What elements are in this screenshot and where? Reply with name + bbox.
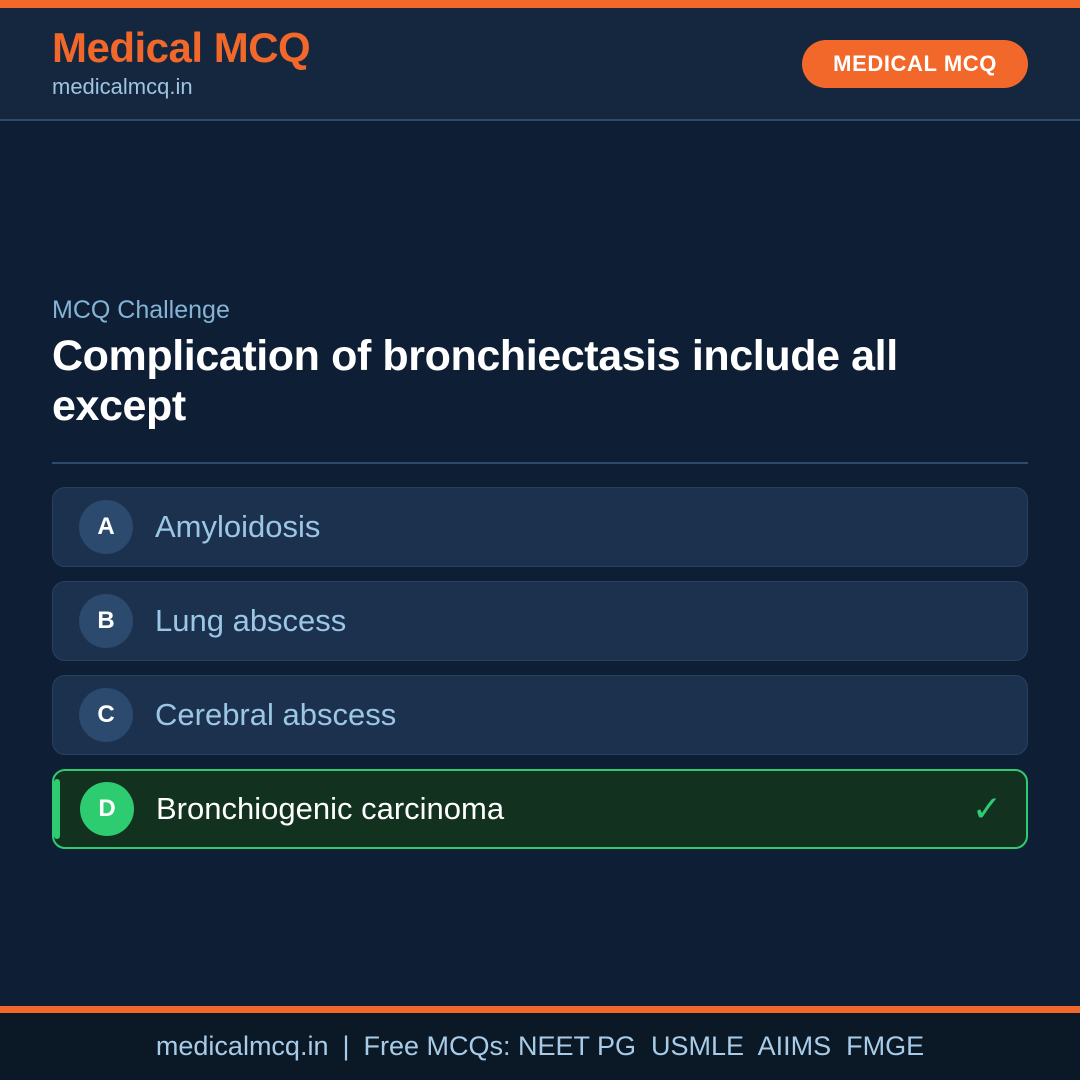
option-badge-d: D: [80, 782, 134, 836]
brand-subtitle: medicalmcq.in: [52, 73, 310, 102]
footer-exams-label: Free MCQs: NEET PG USMLE AIIMS FMGE: [363, 1031, 924, 1062]
option-row-a[interactable]: A Amyloidosis: [52, 487, 1028, 567]
check-icon-d: ✓: [972, 791, 1002, 827]
option-badge-c: C: [79, 688, 133, 742]
footer-accent-bar: [0, 1006, 1080, 1013]
option-text-a: Amyloidosis: [155, 510, 987, 544]
header: Medical MCQ medicalmcq.in MEDICAL MCQ: [0, 8, 1080, 121]
top-accent-bar: [0, 0, 1080, 8]
question-title: Complication of bronchiectasis include a…: [52, 331, 1028, 432]
footer: medicalmcq.in | Free MCQs: NEET PG USMLE…: [0, 1013, 1080, 1080]
brand-title: Medical MCQ: [52, 26, 310, 70]
header-badge[interactable]: MEDICAL MCQ: [802, 40, 1028, 88]
option-text-b: Lung abscess: [155, 604, 987, 638]
option-row-c[interactable]: C Cerebral abscess: [52, 675, 1028, 755]
footer-site-label: medicalmcq.in: [156, 1031, 329, 1062]
option-badge-a: A: [79, 500, 133, 554]
option-text-d: Bronchiogenic carcinoma: [156, 792, 956, 826]
option-row-d[interactable]: D Bronchiogenic carcinoma ✓: [52, 769, 1028, 849]
options-list: A Amyloidosis B Lung abscess C Cerebral …: [52, 487, 1028, 849]
eyebrow-label: MCQ Challenge: [52, 295, 1028, 325]
option-row-b[interactable]: B Lung abscess: [52, 581, 1028, 661]
footer-separator: |: [328, 1031, 363, 1062]
correct-accent-bar: [54, 779, 60, 839]
option-badge-b: B: [79, 594, 133, 648]
section-divider: [52, 462, 1028, 464]
option-text-c: Cerebral abscess: [155, 698, 987, 732]
main-content: MCQ Challenge Complication of bronchiect…: [0, 121, 1080, 1006]
brand-block: Medical MCQ medicalmcq.in: [52, 26, 310, 102]
mcq-card: Medical MCQ medicalmcq.in MEDICAL MCQ MC…: [0, 0, 1080, 1080]
question-block: MCQ Challenge Complication of bronchiect…: [52, 295, 1028, 849]
